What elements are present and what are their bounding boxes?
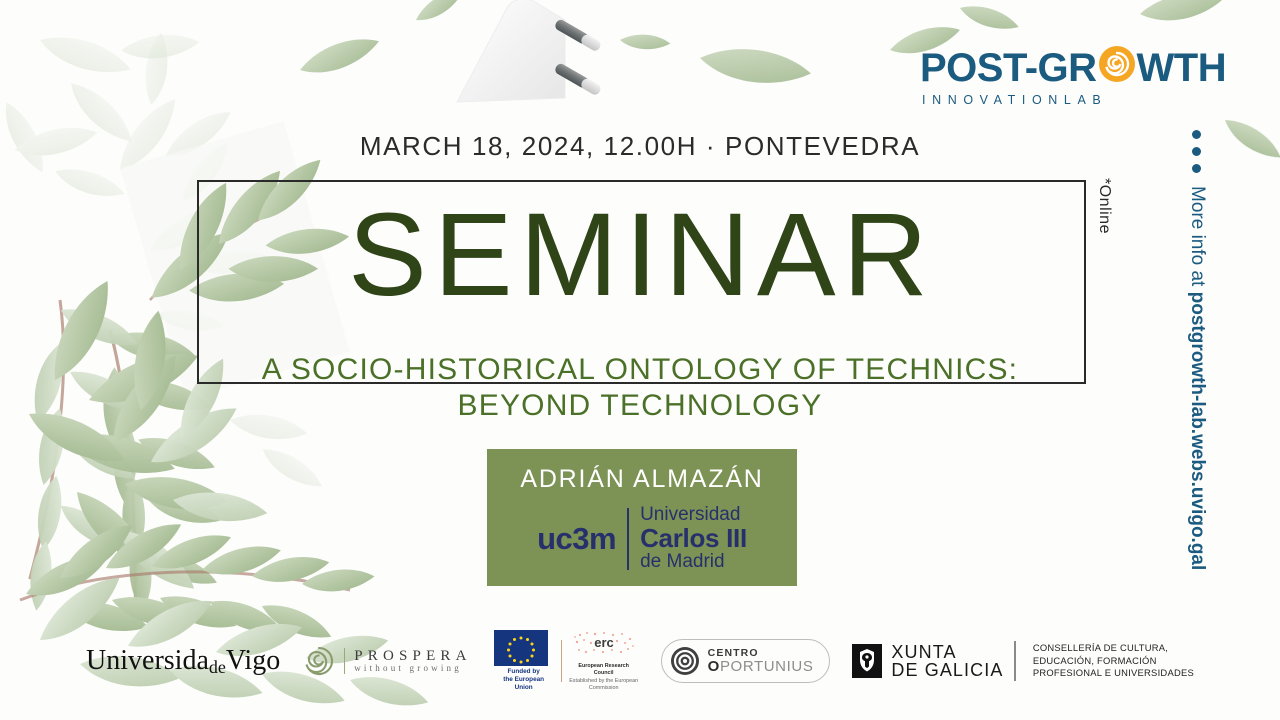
seminar-subtitle: A SOCIO-HISTORICAL ONTOLOGY OF TECHNICS:… xyxy=(140,352,1140,424)
oportunius-text: CENTRO OPORTUNIUS xyxy=(708,648,814,675)
svg-text:erc: erc xyxy=(594,635,614,650)
uc3m-line-3: de Madrid xyxy=(640,552,747,572)
power-plug-illustration xyxy=(455,0,655,140)
eu-erc-divider xyxy=(561,640,562,682)
online-note: *Online xyxy=(1095,178,1113,234)
uc3m-line-2: Carlos III xyxy=(640,525,747,552)
erc-stipple-icon: erc xyxy=(572,630,636,656)
prospera-text: PROSPERA without growing xyxy=(344,648,471,674)
dot-1 xyxy=(1192,130,1201,139)
subtitle-line-2: BEYOND TECHNOLOGY xyxy=(140,388,1140,424)
erc-caption-line-1: European Research Council xyxy=(569,663,639,677)
uc3m-wordmark: uc3m xyxy=(537,521,616,557)
prospera-spiral-icon xyxy=(302,644,336,678)
oportunius-line-2-rest: PORTUNIUS xyxy=(720,658,813,675)
uc3m-divider xyxy=(627,508,629,570)
uc3m-line-1: Universidad xyxy=(640,505,747,525)
uc3m-university-name: Universidad Carlos III de Madrid xyxy=(640,505,747,572)
prospera-logo[interactable]: PROSPERA without growing xyxy=(302,644,471,678)
xunta-divider xyxy=(1014,641,1015,681)
xunta-de-galicia-logo[interactable]: XUNTA DE GALICIA CONSELLERÍA DE CULTURA,… xyxy=(852,641,1194,681)
eu-flag-icon xyxy=(494,630,548,666)
eu-funding-caption: Funded by the European Union xyxy=(494,668,554,692)
oportunius-line-2-bold: O xyxy=(708,658,720,675)
postgrowth-text-end: WTH xyxy=(1137,46,1227,90)
erc-caption-line-2: Established by the European Commission xyxy=(569,678,638,691)
decorative-dots xyxy=(1192,130,1201,181)
seminar-poster: MARCH 18, 2024, 12.00H · PONTEVEDRA SEMI… xyxy=(0,0,1280,720)
xunta-name: XUNTA DE GALICIA xyxy=(891,643,1003,680)
sponsor-footer: UniversidadeVigo PROSPERA without growin… xyxy=(0,628,1280,694)
xunta-line-1: XUNTA xyxy=(891,643,1003,661)
spiral-icon xyxy=(1097,44,1137,84)
postgrowth-text-start: POST-GR xyxy=(920,46,1097,90)
erc-logo: erc European Research Council Establishe… xyxy=(569,630,639,691)
uvigo-part-3: Vigo xyxy=(226,645,280,676)
more-info-link[interactable]: More info at postgrowth-lab.webs.uvigo.g… xyxy=(1186,186,1208,570)
subtitle-line-1: A SOCIO-HISTORICAL ONTOLOGY OF TECHNICS: xyxy=(140,352,1140,388)
xunta-line-2: DE GALICIA xyxy=(891,661,1003,679)
eu-funding-logo: Funded by the European Union xyxy=(494,630,554,692)
speaker-name: ADRIÁN ALMAZÁN xyxy=(487,465,797,494)
xunta-department: CONSELLERÍA DE CULTURA, EDUCACIÓN, FORMA… xyxy=(1033,642,1194,680)
oportunius-line-2: OPORTUNIUS xyxy=(708,659,814,675)
speaker-card: ADRIÁN ALMAZÁN uc3m Universidad Carlos I… xyxy=(487,449,797,586)
page-title: SEMINAR xyxy=(197,196,1086,314)
universidade-de-vigo-logo[interactable]: UniversidadeVigo xyxy=(86,645,280,678)
eu-erc-funding-logos[interactable]: Funded by the European Union xyxy=(494,630,639,692)
uvigo-part-2: de xyxy=(209,657,226,677)
dot-2 xyxy=(1192,147,1201,156)
postgrowth-lab-logo[interactable]: POST-GRWTH INNOVATIONLAB xyxy=(920,44,1220,107)
centro-oportunius-logo[interactable]: CENTRO OPORTUNIUS xyxy=(661,639,831,683)
postgrowth-wordmark: POST-GRWTH xyxy=(920,44,1220,90)
erc-caption: European Research Council Established by… xyxy=(569,663,639,691)
oportunius-target-icon xyxy=(670,646,700,676)
prospera-tagline: without growing xyxy=(354,664,471,674)
more-info-prefix: More info at xyxy=(1187,186,1208,292)
eu-caption-line-2: the European Union xyxy=(494,676,554,692)
innovation-lab-subtitle: INNOVATIONLAB xyxy=(920,93,1220,107)
uvigo-part-1: Universida xyxy=(86,645,209,676)
xunta-coat-of-arms-icon xyxy=(852,644,882,678)
event-date-location: MARCH 18, 2024, 12.00H · PONTEVEDRA xyxy=(0,131,1280,162)
uc3m-logo: uc3m Universidad Carlos III de Madrid xyxy=(487,505,797,572)
prospera-name: PROSPERA xyxy=(354,648,471,665)
eu-caption-line-1: Funded by xyxy=(494,668,554,676)
dot-3 xyxy=(1192,164,1201,173)
more-info-url: postgrowth-lab.webs.uvigo.gal xyxy=(1187,292,1208,571)
